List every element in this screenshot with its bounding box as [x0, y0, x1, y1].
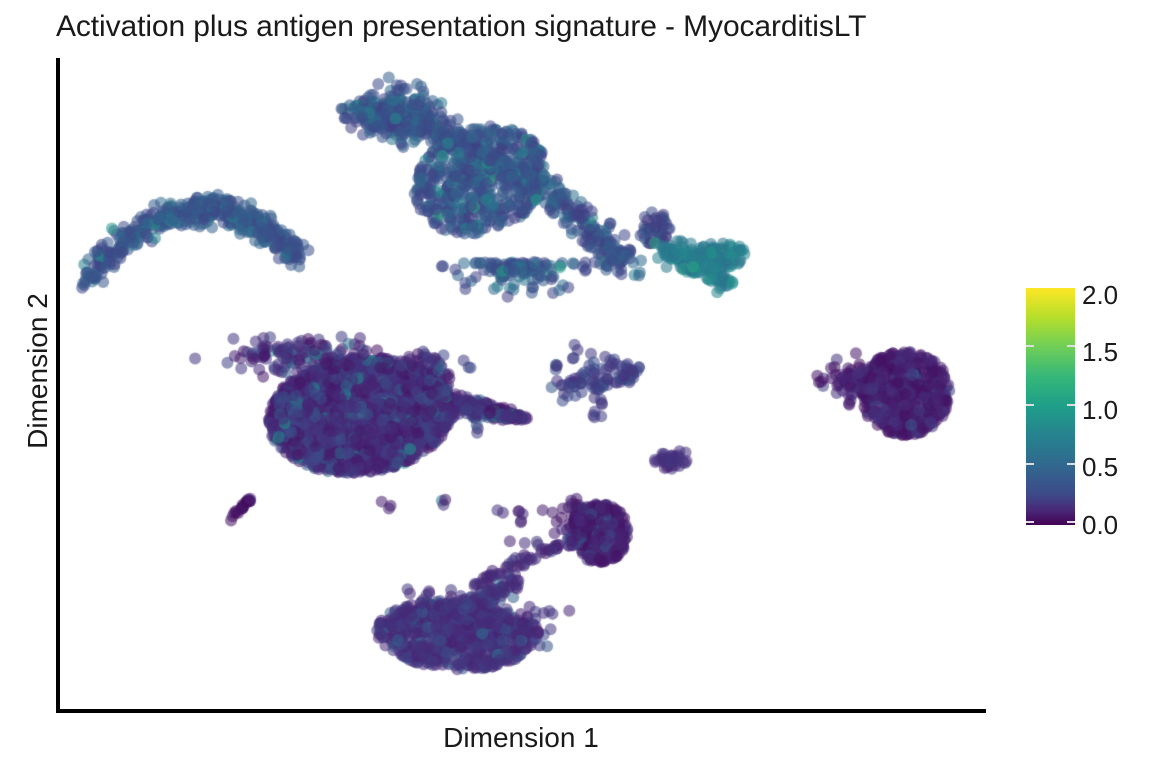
scatter-plot-figure: Activation plus antigen presentation sig… [0, 0, 1152, 768]
page-title: Activation plus antigen presentation sig… [56, 8, 866, 46]
colorbar-tick-left [1026, 404, 1034, 406]
scatter-points-layer [60, 58, 986, 709]
colorbar-tick-right [1067, 463, 1075, 465]
colorbar-tick-left [1026, 463, 1034, 465]
colorbar-tick-left [1026, 345, 1034, 347]
colorbar-tick-right [1067, 345, 1075, 347]
colorbar: 2.0 1.5 1.0 0.5 0.0 [1026, 288, 1152, 528]
colorbar-gradient [1026, 288, 1075, 525]
x-axis-label: Dimension 1 [56, 722, 986, 754]
colorbar-tick-right [1067, 404, 1075, 406]
colorbar-tick-right [1067, 521, 1075, 523]
y-axis-label: Dimension 2 [22, 241, 54, 501]
colorbar-tick-left [1026, 521, 1034, 523]
colorbar-tick-label: 2.0 [1082, 282, 1118, 308]
colorbar-tick-label: 1.5 [1082, 339, 1118, 365]
x-axis-line [56, 709, 986, 713]
colorbar-tick-label: 0.5 [1082, 454, 1118, 480]
colorbar-tick-label: 0.0 [1082, 512, 1118, 538]
colorbar-tick-label: 1.0 [1082, 397, 1118, 423]
